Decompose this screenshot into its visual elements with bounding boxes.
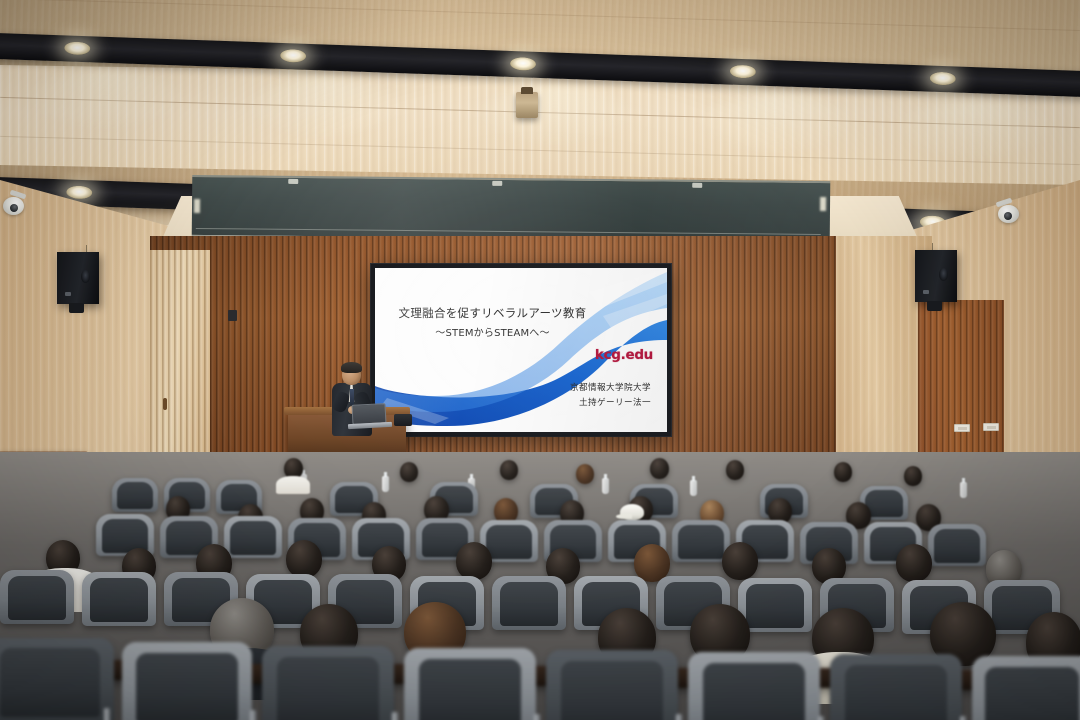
- slide-title: 文理融合を促すリベラルアーツ教育: [385, 306, 600, 322]
- audience-head: [904, 466, 922, 486]
- ceiling-downlight: [280, 49, 306, 63]
- seat-leg: [250, 710, 256, 720]
- seat[interactable]: [672, 520, 730, 562]
- slide-organization-block: 京都情報大学院大学 土持ゲーリー法一: [570, 381, 651, 410]
- water-bottle: [382, 476, 389, 492]
- seat[interactable]: [112, 478, 158, 512]
- ceiling-downlight: [510, 57, 536, 71]
- panel-fixing: [288, 179, 298, 184]
- speaker-badge: [923, 290, 929, 294]
- panel-fixing: [692, 183, 702, 188]
- presenter-tie: [350, 389, 354, 405]
- projected-slide: 文理融合を促すリベラルアーツ教育 〜STEMからSTEAMへ〜 kcg.edu …: [375, 268, 667, 432]
- panel-rail: [196, 228, 821, 235]
- audience-head: [722, 542, 758, 580]
- ceiling-downlight: [930, 72, 956, 86]
- water-bottle: [602, 478, 609, 494]
- seat[interactable]: [224, 516, 282, 558]
- seat[interactable]: [928, 524, 986, 566]
- dome-security-camera-left: [2, 192, 28, 216]
- seat[interactable]: [546, 650, 678, 720]
- wall-speaker-right: [915, 250, 957, 302]
- seat[interactable]: [0, 570, 74, 624]
- speaker-badge: [65, 292, 71, 296]
- door-slats: [150, 250, 210, 472]
- seat[interactable]: [738, 578, 812, 632]
- seat[interactable]: [262, 646, 394, 720]
- wall-speaker-left: [57, 252, 99, 304]
- ceiling-downlight: [730, 65, 756, 79]
- right-panel-slats: [918, 300, 1004, 472]
- audience-head: [834, 462, 852, 482]
- seat-leg: [104, 708, 110, 720]
- audience-head: [456, 542, 492, 580]
- podium-microphone: [394, 414, 412, 426]
- auditorium-floor: [0, 452, 1080, 720]
- seat[interactable]: [122, 642, 252, 720]
- seat-leg: [818, 716, 824, 720]
- seat-leg: [676, 714, 682, 720]
- camera-lens: [1004, 212, 1012, 220]
- seat-leg: [960, 716, 966, 720]
- wall-power-outlet[interactable]: [983, 423, 999, 431]
- dome-security-camera-right: [994, 200, 1020, 224]
- audience-head: [500, 460, 518, 480]
- presenter-hair: [341, 362, 362, 373]
- wall-light-switch[interactable]: [228, 310, 237, 321]
- right-dark-wood-panel: [918, 300, 1004, 472]
- seat[interactable]: [492, 576, 566, 630]
- seat[interactable]: [688, 652, 820, 720]
- audience-head: [650, 458, 669, 479]
- seat[interactable]: [972, 656, 1080, 720]
- auditorium-photo-scene: 文理融合を促すリベラルアーツ教育 〜STEMからSTEAMへ〜 kcg.edu …: [0, 0, 1080, 720]
- kcg-edu-logo: kcg.edu: [595, 347, 653, 363]
- stage-side-door[interactable]: [150, 250, 210, 472]
- audience-head: [726, 460, 744, 480]
- ceiling-projector-mount: [516, 92, 538, 118]
- door-handle[interactable]: [163, 398, 167, 410]
- camera-lens: [10, 204, 18, 212]
- slide-presenter-name: 土持ゲーリー法一: [570, 396, 651, 411]
- panel-edge-light: [194, 199, 200, 213]
- audience-head: [896, 544, 932, 582]
- seat[interactable]: [0, 638, 114, 720]
- wall-power-outlet[interactable]: [954, 424, 970, 432]
- white-baseball-cap: [620, 504, 644, 520]
- seat-leg: [392, 712, 398, 720]
- panel-fixing: [492, 181, 502, 186]
- audience-head: [400, 462, 418, 482]
- panel-edge-light: [820, 197, 826, 211]
- audience-head: [286, 540, 322, 578]
- seat[interactable]: [82, 572, 156, 626]
- projection-screen: 文理融合を促すリベラルアーツ教育 〜STEMからSTEAMへ〜 kcg.edu …: [371, 264, 671, 436]
- water-bottle: [960, 482, 967, 498]
- audience-head: [576, 464, 594, 484]
- ceiling-downlight: [64, 41, 90, 55]
- slide-subtitle: 〜STEMからSTEAMへ〜: [385, 324, 600, 339]
- ceiling-downlight: [66, 185, 92, 199]
- dark-acoustic-panel-band: [192, 175, 831, 243]
- seat[interactable]: [830, 654, 962, 720]
- audience-shoulders: [276, 476, 310, 494]
- water-bottle: [690, 480, 697, 496]
- seat[interactable]: [404, 648, 536, 720]
- slide-organization: 京都情報大学院大学: [570, 381, 651, 396]
- seat-leg: [534, 714, 540, 720]
